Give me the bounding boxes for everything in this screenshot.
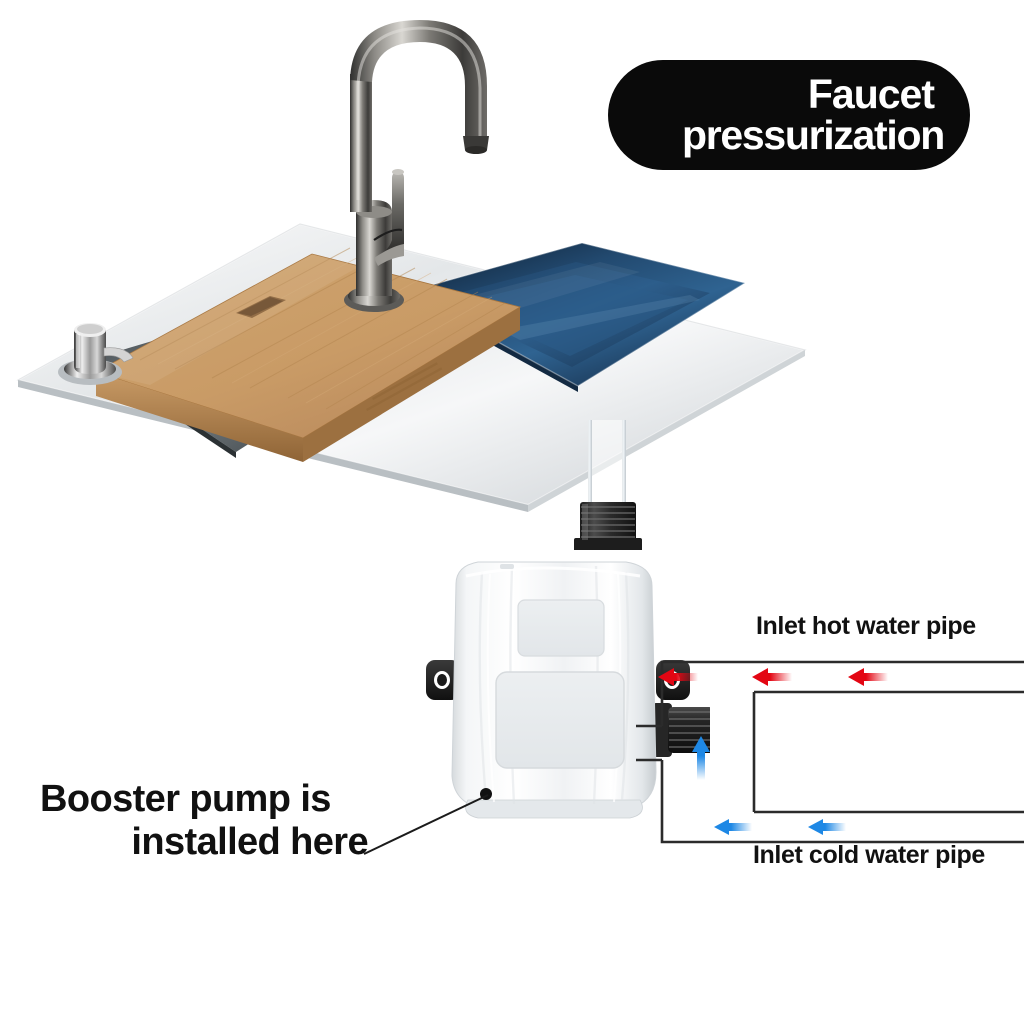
- cold-water-pipe-label: Inlet cold water pipe: [753, 841, 985, 870]
- infographic-canvas: Faucet pressurization Booster pump is in…: [0, 0, 1024, 1024]
- cold-water-arrows: [714, 819, 846, 835]
- booster-callout-line-2: installed here: [40, 821, 370, 864]
- booster-pump-leader-line: [350, 780, 500, 864]
- booster-pump-callout: Booster pump is installed here: [40, 778, 370, 863]
- badge-line-1: Faucet: [808, 75, 934, 114]
- title-badge: Faucet pressurization: [608, 60, 970, 170]
- hot-water-arrows: [636, 668, 888, 752]
- cold-water-riser-arrow: [692, 736, 710, 780]
- hot-water-pipe-label: Inlet hot water pipe: [756, 612, 976, 641]
- booster-callout-line-1: Booster pump is: [40, 778, 370, 821]
- badge-line-2: pressurization: [682, 116, 944, 155]
- water-pipe-diagram: [636, 640, 1024, 862]
